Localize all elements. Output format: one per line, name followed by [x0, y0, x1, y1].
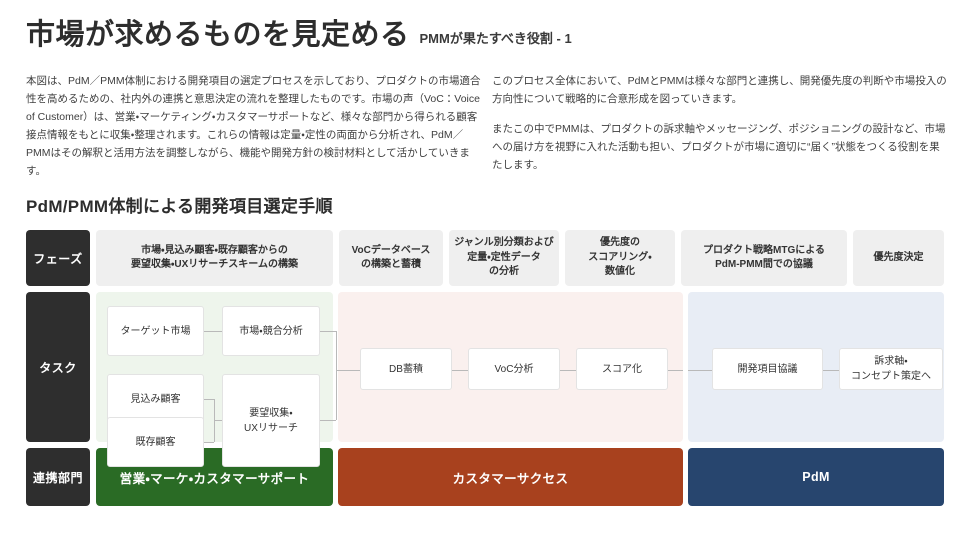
connector [336, 331, 337, 370]
task-band-decision: 開発項目協議 訴求軸・ コンセプト策定へ [688, 292, 944, 442]
connector [688, 370, 712, 371]
connector [204, 399, 214, 400]
task-row: タスク ターゲット市場 見込み顧客 既存顧客 市場・競合分析 要望収集・ UXリ… [26, 292, 944, 442]
task-node-scoring[interactable]: スコア化 [576, 348, 668, 390]
row-label-phase: フェーズ [26, 230, 90, 286]
phase-cell-4: 優先度の スコアリング・ 数値化 [565, 230, 675, 286]
connector [452, 370, 468, 371]
connector [338, 370, 360, 371]
phase-cell-6: 優先度決定 [853, 230, 944, 286]
connector [336, 370, 337, 420]
paragraph: またこの中でPMMは、プロダクトの訴求軸やメッセージング、ポジショニングの設計な… [492, 120, 947, 174]
connector [560, 370, 576, 371]
task-node-existing-customers[interactable]: 既存顧客 [107, 417, 204, 467]
task-band-research: ターゲット市場 見込み顧客 既存顧客 市場・競合分析 要望収集・ UXリサーチ [96, 292, 333, 442]
body-text-left: 本図は、PdM／PMM体制における開発項目の選定プロセスを示しており、プロダクト… [26, 72, 481, 180]
phase-cell-1: 市場・見込み顧客・既存顧客からの 要望収集・UXリサーチスキームの構築 [96, 230, 333, 286]
diagram-heading: PdM/PMM体制による開発項目選定手順 [26, 192, 333, 217]
paragraph: このプロセス全体において、PdMとPMMは様々な部門と連携し、開発優先度の判断や… [492, 72, 947, 108]
task-node-market-analysis[interactable]: 市場・競合分析 [222, 306, 320, 356]
page-header: 市場が求めるものを見定める PMMが果たすべき役割 - 1 [26, 18, 572, 53]
department-pdm: PdM [688, 448, 944, 506]
phase-cell-5: プロダクト戦略MTGによる PdM-PMM間での協議 [681, 230, 847, 286]
page-subtitle: PMMが果たすべき役割 - 1 [420, 28, 572, 47]
connector [204, 442, 214, 443]
phase-cell-2: VoCデータベース の構築と蓄積 [339, 230, 443, 286]
connector [668, 370, 683, 371]
department-customer-success: カスタマーサクセス [338, 448, 683, 506]
process-diagram: フェーズ 市場・見込み顧客・既存顧客からの 要望収集・UXリサーチスキームの構築… [26, 230, 944, 506]
task-node-dev-item-discussion[interactable]: 開発項目協議 [712, 348, 823, 390]
task-node-db-accumulation[interactable]: DB蓄積 [360, 348, 452, 390]
phase-cell-3: ジャンル別分類および 定量・定性データ の分析 [449, 230, 559, 286]
task-band-analysis: DB蓄積 VoC分析 スコア化 [338, 292, 683, 442]
phase-row: フェーズ 市場・見込み顧客・既存顧客からの 要望収集・UXリサーチスキームの構築… [26, 230, 944, 286]
row-label-task: タスク [26, 292, 90, 442]
task-bands: ターゲット市場 見込み顧客 既存顧客 市場・競合分析 要望収集・ UXリサーチ … [96, 292, 944, 442]
task-node-requirements-ux[interactable]: 要望収集・ UXリサーチ [222, 374, 320, 467]
page-title: 市場が求めるものを見定める [26, 18, 410, 53]
connector [320, 331, 336, 332]
paragraph: 本図は、PdM／PMM体制における開発項目の選定プロセスを示しており、プロダクト… [26, 72, 481, 180]
slide-canvas: 市場が求めるものを見定める PMMが果たすべき役割 - 1 本図は、PdM／PM… [0, 0, 970, 539]
task-node-target-market[interactable]: ターゲット市場 [107, 306, 204, 356]
connector [823, 370, 839, 371]
connector [320, 420, 336, 421]
task-node-concept-planning[interactable]: 訴求軸・ コンセプト策定へ [839, 348, 943, 390]
connector [214, 420, 222, 421]
connector [204, 331, 222, 332]
body-text-right: このプロセス全体において、PdMとPMMは様々な部門と連携し、開発優先度の判断や… [492, 72, 947, 174]
task-node-voc-analysis[interactable]: VoC分析 [468, 348, 560, 390]
phase-cells: 市場・見込み顧客・既存顧客からの 要望収集・UXリサーチスキームの構築 VoCデ… [96, 230, 944, 286]
row-label-department: 連携部門 [26, 448, 90, 506]
